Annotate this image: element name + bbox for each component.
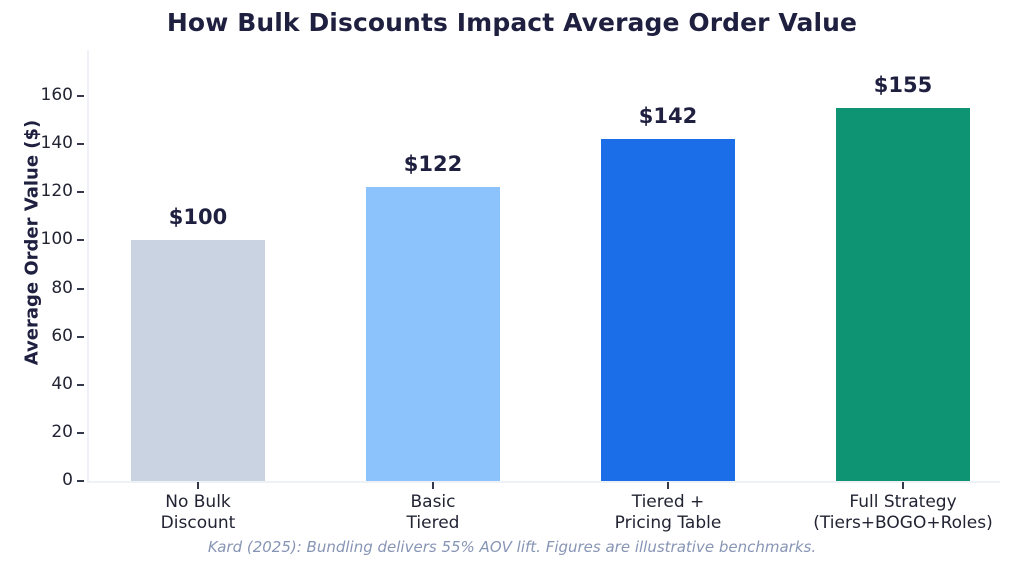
bar[interactable] (601, 139, 735, 481)
y-tick-label: 160 (41, 85, 73, 105)
y-tick-label: 0 (62, 470, 73, 490)
bar-value-label: $142 (561, 104, 775, 128)
chart-title: How Bulk Discounts Impact Average Order … (0, 8, 1024, 37)
bar-value-label: $155 (796, 73, 1010, 97)
x-tick-mark (432, 482, 434, 489)
y-tick-label: 60 (51, 326, 73, 346)
bar-value-label: $122 (326, 152, 540, 176)
y-tick-mark (77, 143, 84, 145)
y-tick-label: 140 (41, 133, 73, 153)
y-tick-mark (77, 336, 84, 338)
x-tick-mark (197, 482, 199, 489)
y-tick-label: 100 (41, 229, 73, 249)
bar[interactable] (836, 108, 970, 481)
y-tick-mark (77, 191, 84, 193)
y-tick-mark (77, 239, 84, 241)
x-tick-label: Full Strategy(Tiers+BOGO+Roles) (753, 492, 1024, 534)
chart-footnote: Kard (2025): Bundling delivers 55% AOV l… (0, 538, 1024, 556)
y-tick-mark (77, 95, 84, 97)
y-tick-label: 40 (51, 374, 73, 394)
plot-area: $100$122$142$155 (87, 50, 1000, 481)
x-tick-mark (902, 482, 904, 489)
x-axis-spine (87, 481, 1000, 483)
bar[interactable] (366, 187, 500, 481)
y-tick-label: 20 (51, 422, 73, 442)
y-tick-mark (77, 432, 84, 434)
y-tick-mark (77, 288, 84, 290)
y-tick-label: 80 (51, 278, 73, 298)
x-tick-mark (667, 482, 669, 489)
x-tick-label-line: (Tiers+BOGO+Roles) (753, 513, 1024, 534)
x-tick-label-line: Full Strategy (753, 492, 1024, 513)
y-axis-title: Average Order Value ($) (22, 83, 43, 403)
bar[interactable] (131, 240, 265, 481)
y-tick-mark (77, 480, 84, 482)
chart-figure: How Bulk Discounts Impact Average Order … (0, 0, 1024, 567)
y-tick-mark (77, 384, 84, 386)
y-tick-label: 120 (41, 181, 73, 201)
bar-value-label: $100 (91, 205, 305, 229)
